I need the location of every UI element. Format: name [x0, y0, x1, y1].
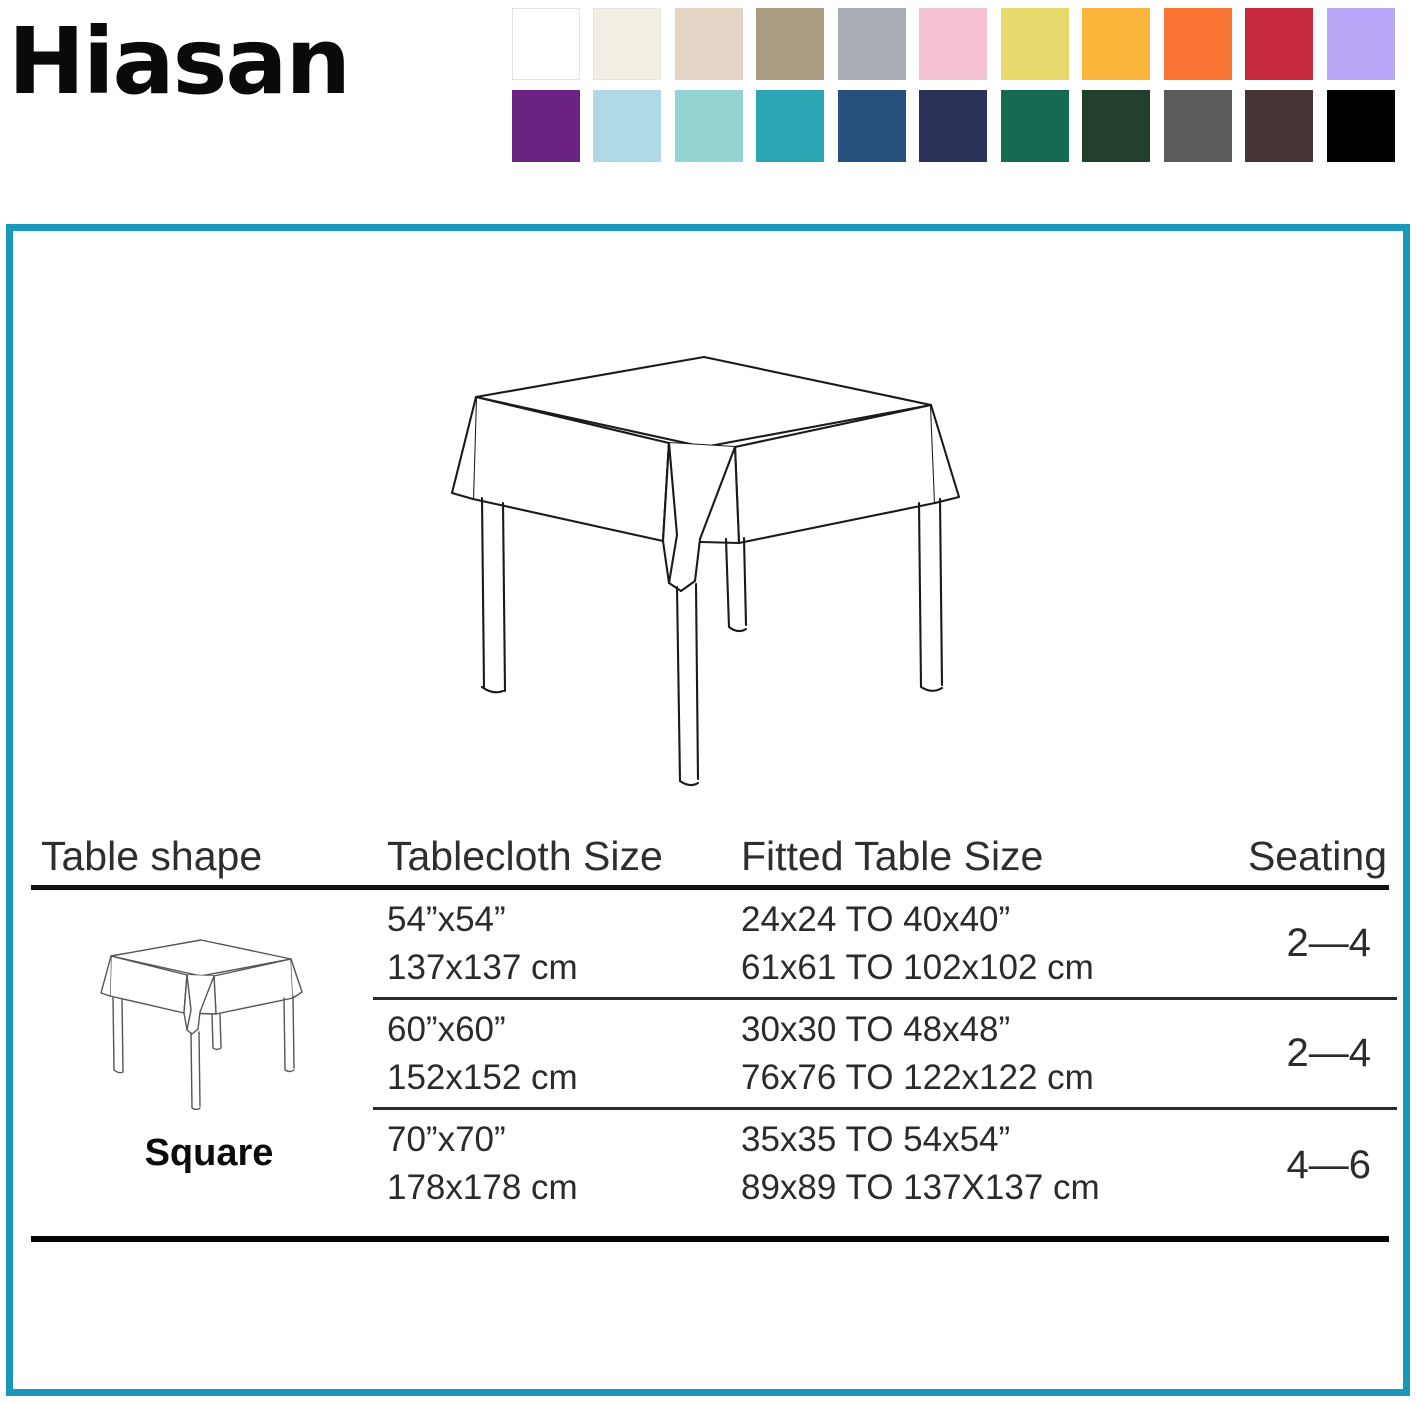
color-swatch-teal[interactable] — [756, 90, 824, 162]
color-swatch-cell[interactable] — [756, 90, 837, 172]
color-swatch-red[interactable] — [1245, 8, 1313, 80]
color-swatch-dark-gray[interactable] — [1164, 90, 1232, 162]
color-swatch-cell[interactable] — [675, 90, 756, 172]
cloth-size-cm: 137x137 cm — [387, 944, 578, 992]
fitted-size-cm: 76x76 TO 122x122 cm — [741, 1054, 1094, 1102]
cell-tablecloth-size: 70”x70” 178x178 cm — [387, 1116, 578, 1212]
color-swatch-cell[interactable] — [1327, 90, 1408, 172]
fitted-size-inches: 24x24 TO 40x40” — [741, 896, 1094, 944]
color-swatch-cell[interactable] — [1245, 90, 1326, 172]
color-swatch-pink[interactable] — [919, 8, 987, 80]
color-swatch-cell[interactable] — [1164, 8, 1245, 90]
color-swatch-aqua[interactable] — [675, 90, 743, 162]
cloth-size-cm: 178x178 cm — [387, 1164, 578, 1212]
fitted-size-cm: 89x89 TO 137X137 cm — [741, 1164, 1100, 1212]
color-swatch-row-2 — [512, 90, 1408, 172]
header: Hiasan — [0, 0, 1416, 200]
color-swatch-cell[interactable] — [512, 8, 593, 90]
cell-fitted-table-size: 30x30 TO 48x48” 76x76 TO 122x122 cm — [741, 1006, 1094, 1102]
color-swatch-cell[interactable] — [838, 8, 919, 90]
color-swatch-emerald[interactable] — [1001, 90, 1069, 162]
table-shape-cell: Square — [49, 930, 369, 1175]
color-swatch-cell[interactable] — [1082, 8, 1163, 90]
column-header-tablecloth-size: Tablecloth Size — [387, 836, 663, 877]
color-swatch-grid — [512, 8, 1408, 172]
table-row: 60”x60” 152x152 cm 30x30 TO 48x48” 76x76… — [373, 1000, 1397, 1110]
content-frame: Table shape Tablecloth Size Fitted Table… — [6, 224, 1410, 1396]
color-swatch-forest-green[interactable] — [1082, 90, 1150, 162]
color-swatch-cell[interactable] — [1001, 90, 1082, 172]
cloth-size-inches: 54”x54” — [387, 896, 578, 944]
cell-tablecloth-size: 54”x54” 137x137 cm — [387, 896, 578, 992]
color-swatch-navy[interactable] — [919, 90, 987, 162]
color-swatch-purple[interactable] — [512, 90, 580, 162]
size-chart-table: Table shape Tablecloth Size Fitted Table… — [29, 815, 1397, 1236]
color-swatch-cell[interactable] — [756, 8, 837, 90]
color-swatch-yellow[interactable] — [1001, 8, 1069, 80]
cloth-size-cm: 152x152 cm — [387, 1054, 578, 1102]
cell-tablecloth-size: 60”x60” 152x152 cm — [387, 1006, 578, 1102]
color-swatch-gray[interactable] — [838, 8, 906, 80]
color-swatch-beige[interactable] — [675, 8, 743, 80]
cell-fitted-table-size: 35x35 TO 54x54” 89x89 TO 137X137 cm — [741, 1116, 1100, 1212]
color-swatch-white[interactable] — [512, 8, 580, 80]
color-swatch-cell[interactable] — [919, 8, 1000, 90]
color-swatch-cell[interactable] — [838, 90, 919, 172]
color-swatch-cell[interactable] — [1327, 8, 1408, 90]
color-swatch-taupe[interactable] — [756, 8, 824, 80]
color-swatch-cell[interactable] — [919, 90, 1000, 172]
color-swatch-cell[interactable] — [1164, 90, 1245, 172]
color-swatch-row-1 — [512, 8, 1408, 90]
table-bottom-border — [31, 1236, 1389, 1242]
color-swatch-cell[interactable] — [1245, 8, 1326, 90]
color-swatch-orange[interactable] — [1164, 8, 1232, 80]
color-swatch-light-blue[interactable] — [593, 90, 661, 162]
fitted-size-cm: 61x61 TO 102x102 cm — [741, 944, 1094, 992]
color-swatch-cell[interactable] — [675, 8, 756, 90]
fitted-size-inches: 35x35 TO 54x54” — [741, 1116, 1100, 1164]
color-swatch-ivory[interactable] — [593, 8, 661, 80]
table-header-row: Table shape Tablecloth Size Fitted Table… — [29, 815, 1397, 877]
color-swatch-gold[interactable] — [1082, 8, 1150, 80]
fitted-size-inches: 30x30 TO 48x48” — [741, 1006, 1094, 1054]
brand-logo: Hiasan — [8, 14, 349, 111]
table-row: 54”x54” 137x137 cm 24x24 TO 40x40” 61x61… — [373, 890, 1397, 1000]
column-header-seating: Seating — [1248, 836, 1387, 877]
cell-fitted-table-size: 24x24 TO 40x40” 61x61 TO 102x102 cm — [741, 896, 1094, 992]
color-swatch-cell[interactable] — [593, 8, 674, 90]
size-rows: 54”x54” 137x137 cm 24x24 TO 40x40” 61x61… — [373, 890, 1397, 1220]
product-infographic: Hiasan — [0, 0, 1416, 1402]
color-swatch-cell[interactable] — [1001, 8, 1082, 90]
cloth-size-inches: 60”x60” — [387, 1006, 578, 1054]
cell-seating: 2—4 — [1287, 1000, 1372, 1107]
color-swatch-black[interactable] — [1327, 90, 1395, 162]
column-header-fitted-table-size: Fitted Table Size — [741, 836, 1043, 877]
table-row: 70”x70” 178x178 cm 35x35 TO 54x54” 89x89… — [373, 1110, 1397, 1220]
cell-seating: 2—4 — [1287, 890, 1372, 997]
color-swatch-lavender[interactable] — [1327, 8, 1395, 80]
color-swatch-steel-blue[interactable] — [838, 90, 906, 162]
color-swatch-dark-brown[interactable] — [1245, 90, 1313, 162]
color-swatch-cell[interactable] — [512, 90, 593, 172]
square-table-illustration — [419, 335, 989, 805]
column-header-table-shape: Table shape — [41, 836, 262, 877]
cloth-size-inches: 70”x70” — [387, 1116, 578, 1164]
table-body: Square 54”x54” 137x137 cm 24x24 TO 40x40… — [29, 890, 1397, 1236]
color-swatch-cell[interactable] — [593, 90, 674, 172]
table-shape-label: Square — [49, 1132, 369, 1175]
square-table-icon — [75, 930, 343, 1110]
cell-seating: 4—6 — [1287, 1110, 1372, 1220]
color-swatch-cell[interactable] — [1082, 90, 1163, 172]
